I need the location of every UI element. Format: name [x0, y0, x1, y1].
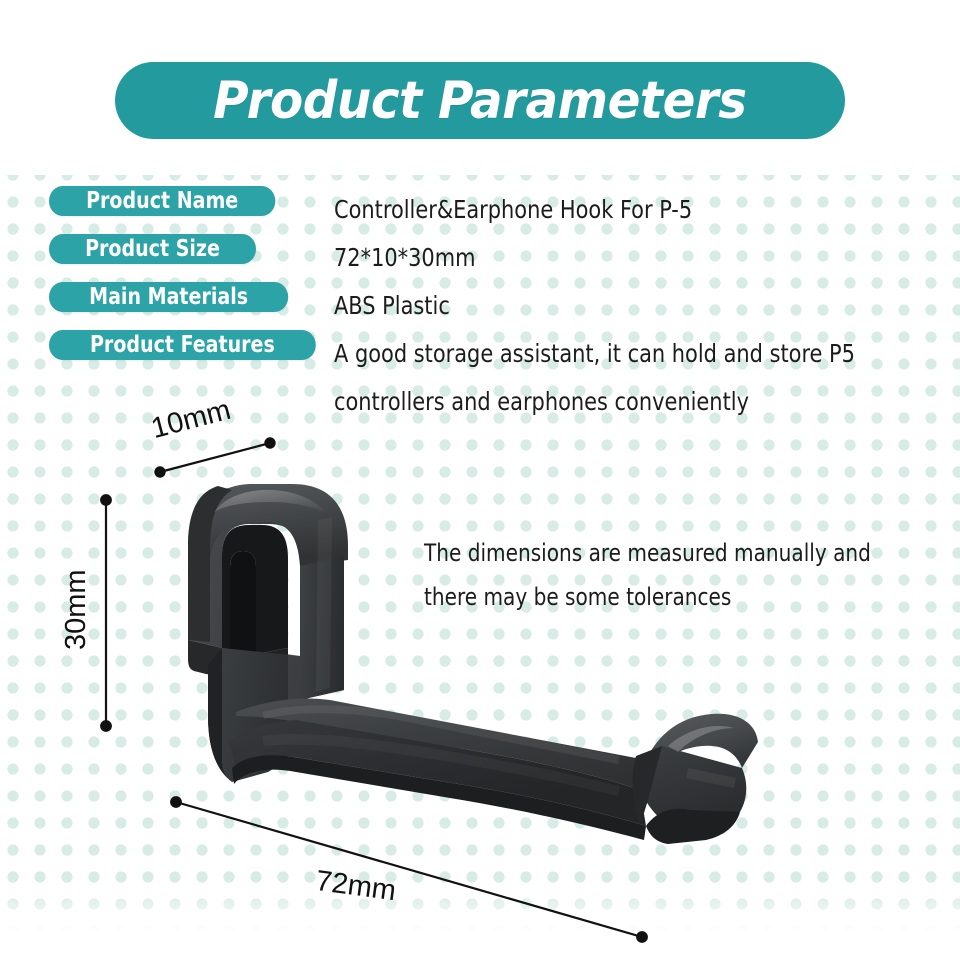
spec-label-product-name: Product Name [49, 186, 275, 216]
hook-end-tip [633, 714, 758, 844]
page-title: Product Parameters [213, 71, 747, 131]
dimension-line-10mm [155, 438, 274, 476]
spec-table: Product Name Controller&Earphone Hook Fo… [0, 186, 960, 378]
page-title-banner: Product Parameters [115, 62, 845, 139]
spec-label-main-materials: Main Materials [49, 282, 288, 312]
spec-row-product-features: Product Features A good storage assistan… [0, 330, 960, 378]
spec-value-main-materials: ABS Plastic [334, 282, 450, 330]
spec-label-product-features: Product Features [49, 330, 316, 360]
product-illustration [0, 0, 960, 960]
spec-row-main-materials: Main Materials ABS Plastic [0, 282, 960, 330]
dimension-line-30mm [101, 495, 111, 731]
spec-value-product-name: Controller&Earphone Hook For P-5 [334, 186, 692, 234]
dimension-label-height: 30mm [60, 569, 93, 650]
spec-value-product-features: A good storage assistant, it can hold an… [334, 330, 929, 426]
hook-horizontal-shelf [228, 699, 673, 841]
spec-row-product-name: Product Name Controller&Earphone Hook Fo… [0, 186, 960, 234]
spec-value-product-size: 72*10*30mm [334, 234, 476, 282]
spec-label-product-size: Product Size [49, 234, 256, 264]
product-parameters-page: Product Parameters Product Name Controll… [0, 0, 960, 960]
spec-row-product-size: Product Size 72*10*30mm [0, 234, 960, 282]
tolerance-note: The dimensions are measured manually and… [424, 531, 880, 619]
